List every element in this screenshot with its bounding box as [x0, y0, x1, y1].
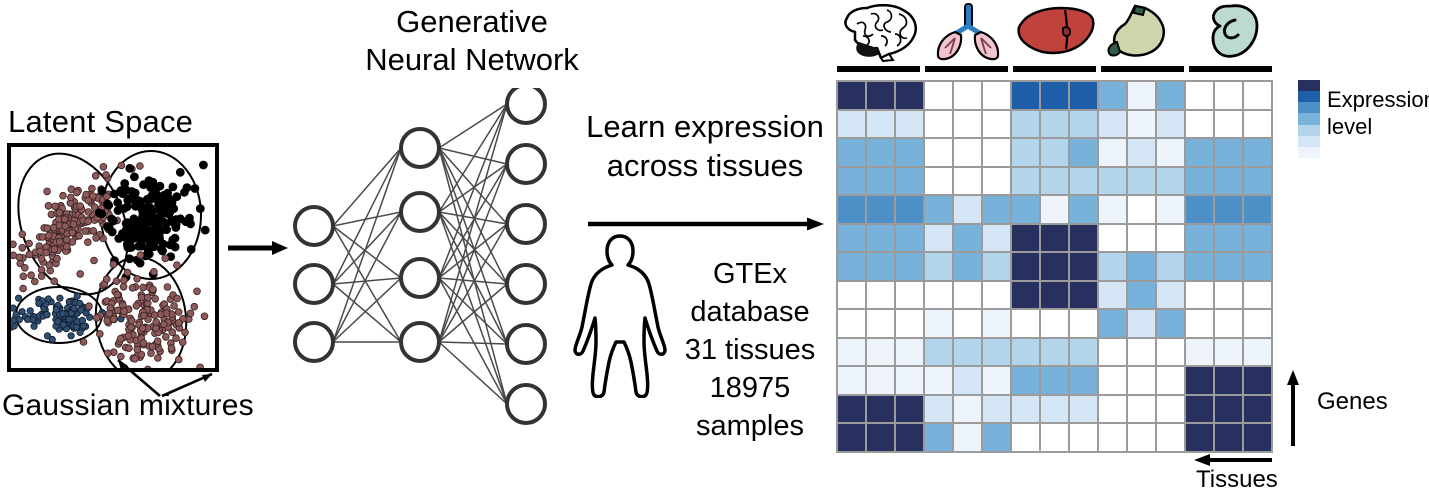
heatmap-cell: [896, 339, 923, 366]
heatmap-cell: [925, 111, 952, 138]
heatmap-cell: [1012, 339, 1039, 366]
scatter-point: [93, 315, 100, 322]
heatmap-cell: [1244, 196, 1271, 223]
network-edge: [333, 212, 401, 284]
heatmap-cell: [838, 196, 865, 223]
scatter-point: [130, 173, 138, 181]
heatmap-cell: [1041, 139, 1068, 166]
stomach-icon: [1100, 2, 1187, 64]
scatter-point: [56, 209, 63, 216]
genes-axis-arrow: [1285, 368, 1301, 448]
heatmap-cell: [867, 282, 894, 309]
kidney-icon: [1188, 2, 1275, 64]
heatmap-cell: [1186, 282, 1213, 309]
heatmap-cell: [1070, 339, 1097, 366]
heatmap-cell: [1012, 367, 1039, 394]
scatter-point: [175, 320, 182, 327]
colorbar-swatch: [1298, 136, 1320, 147]
heatmap-cell: [1244, 310, 1271, 337]
heatmap-cell: [1186, 339, 1213, 366]
scatter-point: [170, 216, 178, 224]
heatmap-cell: [1186, 310, 1213, 337]
heatmap-cell: [1099, 367, 1126, 394]
network-node: [401, 323, 439, 361]
heatmap-cell: [1244, 367, 1271, 394]
colorbar-swatch: [1298, 80, 1320, 91]
heatmap-cell: [954, 139, 981, 166]
learn-expression-title: Learn expression across tissues: [578, 107, 832, 185]
scatter-point: [124, 269, 131, 276]
heatmap-cell: [1157, 282, 1184, 309]
heatmap-cell: [838, 310, 865, 337]
scatter-point: [62, 223, 69, 230]
scatter-point: [144, 195, 152, 203]
learn-title-line1: Learn expression: [578, 107, 832, 146]
scatter-point: [125, 332, 132, 339]
scatter-point: [61, 216, 68, 223]
heatmap-cell: [925, 424, 952, 451]
scatter-point: [44, 333, 50, 339]
heatmap-cell: [1128, 424, 1155, 451]
heatmap-cell: [1099, 196, 1126, 223]
scatter-point: [173, 335, 180, 342]
scatter-point: [144, 216, 152, 224]
heatmap-cell: [1215, 367, 1242, 394]
scatter-point: [98, 187, 106, 195]
scatter-point: [162, 334, 169, 341]
heatmap-cell: [896, 253, 923, 280]
heatmap-cell: [1244, 424, 1271, 451]
heatmap-cell: [1157, 139, 1184, 166]
heatmap-cell: [1215, 339, 1242, 366]
heatmap-cell: [1186, 82, 1213, 109]
heatmap-cell: [838, 339, 865, 366]
heatmap-cell: [954, 367, 981, 394]
scatter-point: [24, 316, 30, 322]
heatmap-cell: [1041, 339, 1068, 366]
scatter-point: [145, 177, 153, 185]
heatmap-cell: [1215, 396, 1242, 423]
scatter-point: [175, 309, 182, 316]
scatter-point: [85, 209, 92, 216]
heatmap-cell: [954, 310, 981, 337]
scatter-point: [52, 203, 59, 210]
scatter-point: [28, 272, 35, 279]
heatmap-cell: [1012, 196, 1039, 223]
scatter-point: [152, 295, 159, 302]
heatmap-cell: [838, 139, 865, 166]
scatter-point: [187, 245, 195, 253]
scatter-point: [199, 161, 207, 169]
heatmap-cell: [954, 168, 981, 195]
heatmap-cell: [1070, 310, 1097, 337]
heatmap-cell: [925, 282, 952, 309]
scatter-point: [135, 242, 143, 250]
heatmap-cell: [983, 310, 1010, 337]
heatmap-cell: [1041, 168, 1068, 195]
scatter-point: [191, 303, 198, 310]
heatmap-cell: [1128, 367, 1155, 394]
scatter-point: [134, 275, 141, 282]
heatmap-cell: [983, 196, 1010, 223]
scatter-point: [149, 343, 156, 350]
scatter-point: [154, 338, 161, 345]
heatmap-cell: [1215, 196, 1242, 223]
scatter-point: [117, 335, 124, 342]
latent-space-title: Latent Space: [8, 104, 193, 140]
scatter-point: [139, 325, 146, 332]
scatter-point: [19, 244, 26, 251]
heatmap-cell: [983, 225, 1010, 252]
heatmap-cell: [1157, 253, 1184, 280]
heatmap-cell: [983, 339, 1010, 366]
scatter-point: [38, 273, 45, 280]
gtex-line1: GTEx database: [664, 255, 836, 331]
heatmap-cell: [954, 396, 981, 423]
heatmap-cell: [1012, 139, 1039, 166]
heatmap-cell: [896, 168, 923, 195]
heatmap-cell: [838, 282, 865, 309]
network-edge: [439, 148, 507, 164]
heatmap-cell: [1244, 225, 1271, 252]
network-node: [507, 265, 545, 303]
heatmap-cell: [1215, 424, 1242, 451]
scatter-point: [60, 192, 67, 199]
scatter-point: [114, 207, 122, 215]
scatter-point: [38, 267, 45, 274]
scatter-point: [140, 284, 147, 291]
scatter-point: [111, 190, 119, 198]
scatter-point: [119, 190, 127, 198]
heatmap-cell: [1128, 339, 1155, 366]
scatter-point: [161, 321, 168, 328]
heatmap-cell: [1128, 310, 1155, 337]
colorbar-label-line1: Expression: [1327, 86, 1427, 113]
scatter-point: [91, 257, 98, 264]
scatter-point: [44, 188, 51, 195]
heatmap-cell: [925, 367, 952, 394]
heatmap-cell: [1244, 82, 1271, 109]
heatmap-cell: [896, 282, 923, 309]
heatmap-cell: [896, 396, 923, 423]
learn-title-line2: across tissues: [578, 146, 832, 185]
heatmap-cell: [1128, 168, 1155, 195]
scatter-point: [96, 331, 103, 338]
scatter-point: [129, 284, 136, 291]
scatter-point: [128, 317, 135, 324]
heatmap-cell: [925, 82, 952, 109]
scatter-point: [92, 172, 99, 179]
scatter-point: [126, 164, 134, 172]
scatter-point: [168, 345, 175, 352]
scatter-point: [45, 202, 52, 209]
scatter-point: [31, 323, 37, 329]
scatter-point: [118, 162, 125, 169]
scatter-point: [182, 329, 189, 336]
scatter-point: [180, 188, 188, 196]
heatmap-cell: [838, 396, 865, 423]
heatmap-cell: [1157, 225, 1184, 252]
scatter-point: [84, 239, 91, 246]
heatmap-cell: [867, 225, 894, 252]
scatter-point: [38, 255, 45, 262]
network-edge: [439, 104, 507, 212]
scatter-point: [133, 302, 140, 309]
scatter-point: [120, 283, 127, 290]
scatter-point: [56, 238, 63, 245]
organ-underline-lungs: [925, 66, 1008, 72]
scatter-point: [136, 259, 144, 267]
scatter-point: [201, 226, 209, 234]
heatmap-cell: [1012, 111, 1039, 138]
heatmap-cell: [954, 225, 981, 252]
heatmap-cell: [1128, 253, 1155, 280]
scatter-point: [174, 295, 181, 302]
heatmap-cell: [838, 253, 865, 280]
heatmap-cell: [1070, 111, 1097, 138]
brain-icon: [836, 2, 923, 64]
scatter-point: [114, 199, 122, 207]
network-node: [295, 265, 333, 303]
heatmap-cell: [896, 225, 923, 252]
heatmap-cell: [1099, 253, 1126, 280]
scatter-point: [80, 339, 87, 346]
heatmap-cell: [983, 253, 1010, 280]
heatmap-cell: [867, 339, 894, 366]
organ-underline-brain: [837, 66, 920, 72]
scatter-point: [63, 236, 70, 243]
heatmap-cell: [1186, 396, 1213, 423]
scatter-point: [144, 294, 151, 301]
expression-colorbar: [1298, 80, 1320, 158]
heatmap-cell: [954, 282, 981, 309]
latent-space-plot-box: [7, 143, 219, 372]
scatter-point: [121, 234, 129, 242]
scatter-point: [16, 254, 23, 261]
scatter-point: [68, 333, 74, 339]
scatter-point: [53, 307, 59, 313]
heatmap-cell: [1186, 225, 1213, 252]
heatmap-cell: [1186, 367, 1213, 394]
scatter-point: [70, 221, 77, 228]
colorbar-swatch: [1298, 102, 1320, 113]
scatter-point: [73, 324, 79, 330]
heatmap-cell: [1157, 310, 1184, 337]
scatter-point: [20, 285, 27, 292]
gtex-line2: 31 tissues: [664, 331, 836, 369]
scatter-point: [153, 325, 160, 332]
network-edge: [333, 148, 401, 284]
network-edge: [439, 278, 507, 404]
scatter-point: [46, 262, 53, 269]
scatter-point: [74, 293, 80, 299]
heatmap-cell: [983, 396, 1010, 423]
scatter-point: [103, 172, 110, 179]
scatter-point: [201, 313, 208, 320]
heatmap-cell: [1012, 282, 1039, 309]
scatter-point: [21, 264, 28, 271]
scatter-point: [85, 197, 92, 204]
network-title-line1: Generative: [352, 3, 592, 41]
heatmap-cell: [838, 225, 865, 252]
scatter-point: [98, 210, 106, 218]
scatter-point: [71, 305, 77, 311]
heatmap-cell: [1070, 168, 1097, 195]
heatmap-cell: [1215, 253, 1242, 280]
scatter-point: [43, 249, 50, 256]
heatmap-cell: [1128, 139, 1155, 166]
heatmap-cell: [1041, 310, 1068, 337]
scatter-point: [44, 311, 50, 317]
heatmap-cell: [896, 367, 923, 394]
heatmap-cell: [1012, 225, 1039, 252]
heatmap-cell: [1070, 225, 1097, 252]
scatter-point: [137, 163, 144, 170]
heatmap-cell: [1244, 139, 1271, 166]
heatmap-cell: [838, 111, 865, 138]
scatter-point: [114, 291, 121, 298]
scatter-point: [78, 307, 84, 313]
organ-underline-stomach: [1101, 66, 1184, 72]
heatmap-cell: [838, 367, 865, 394]
scatter-point: [104, 317, 111, 324]
heatmap-cell: [1157, 424, 1184, 451]
cluster-points-brown-lower: [80, 252, 208, 368]
scatter-point: [31, 278, 38, 285]
heatmap-cell: [1099, 310, 1126, 337]
heatmap-cell: [1186, 168, 1213, 195]
heatmap-cell: [983, 424, 1010, 451]
heatmap-cell: [983, 82, 1010, 109]
arrow-latent-to-network: [228, 238, 290, 258]
organ-underline-liver: [1013, 66, 1096, 72]
heatmap-cell: [925, 168, 952, 195]
scatter-point: [54, 255, 61, 262]
heatmap-cell: [1099, 396, 1126, 423]
heatmap-cell: [983, 111, 1010, 138]
scatter-point: [150, 286, 157, 293]
scatter-point: [36, 300, 42, 306]
heatmap-cell: [983, 367, 1010, 394]
scatter-point: [164, 189, 172, 197]
scatter-point: [196, 205, 204, 213]
scatter-point: [51, 278, 58, 285]
scatter-point: [186, 214, 194, 222]
heatmap-cell: [1157, 111, 1184, 138]
heatmap-cell: [1012, 310, 1039, 337]
heatmap-cell: [896, 310, 923, 337]
scatter-point: [152, 223, 160, 231]
network-node: [295, 323, 333, 361]
heatmap-cell: [925, 225, 952, 252]
scatter-point: [85, 218, 92, 225]
scatter-point: [179, 339, 186, 346]
genes-axis-label: Genes: [1317, 388, 1388, 416]
arrow-network-to-heatmap: [588, 215, 826, 233]
heatmap-cell: [954, 253, 981, 280]
scatter-point: [69, 229, 76, 236]
scatter-point: [77, 203, 84, 210]
heatmap-cell: [1244, 253, 1271, 280]
heatmap-cell: [1012, 424, 1039, 451]
heatmap-cell: [896, 196, 923, 223]
heatmap-cell: [1128, 282, 1155, 309]
network-node: [401, 193, 439, 231]
scatter-point: [149, 207, 157, 215]
scatter-point: [11, 305, 16, 311]
heatmap-cell: [1070, 424, 1097, 451]
heatmap-cell: [1244, 339, 1271, 366]
heatmap-cell: [954, 339, 981, 366]
heatmap-cell: [1041, 111, 1068, 138]
heatmap-cell: [1157, 396, 1184, 423]
scatter-point: [26, 240, 33, 247]
heatmap-cell: [1099, 111, 1126, 138]
heatmap-cell: [1099, 225, 1126, 252]
colorbar-swatch: [1298, 125, 1320, 136]
network-node: [507, 385, 545, 423]
scatter-point: [160, 201, 168, 209]
heatmap-cell: [867, 367, 894, 394]
colorbar-swatch: [1298, 91, 1320, 102]
scatter-point: [141, 312, 148, 319]
heatmap-cell: [954, 424, 981, 451]
heatmap-cell: [1041, 253, 1068, 280]
scatter-point: [140, 340, 147, 347]
heatmap-cell: [1070, 396, 1097, 423]
heatmap-cell: [925, 310, 952, 337]
heatmap-cell: [1128, 225, 1155, 252]
scatter-point: [15, 295, 21, 301]
heatmap-cell: [1041, 82, 1068, 109]
scatter-point: [128, 226, 136, 234]
scatter-point: [86, 303, 93, 310]
heatmap-cell: [1244, 111, 1271, 138]
network-node: [507, 145, 545, 183]
network-node: [507, 205, 545, 243]
scatter-point: [153, 194, 161, 202]
organ-underline-kidney: [1189, 66, 1272, 72]
network-node: [507, 325, 545, 363]
network-edge: [333, 212, 401, 342]
network-node: [295, 207, 333, 245]
colorbar-swatch: [1298, 113, 1320, 124]
heatmap-cell: [1157, 82, 1184, 109]
organ-icon-row: [836, 2, 1273, 64]
heatmap-cell: [1041, 367, 1068, 394]
scatter-point: [60, 310, 66, 316]
scatter-point: [137, 252, 144, 259]
scatter-point: [45, 232, 52, 239]
gtex-line3: 18975 samples: [664, 369, 836, 445]
heatmap-cell: [1070, 139, 1097, 166]
scatter-point: [110, 261, 117, 268]
heatmap-cell: [1215, 168, 1242, 195]
scatter-point: [19, 231, 26, 238]
scatter-point: [63, 243, 70, 250]
heatmap-cell: [1215, 82, 1242, 109]
heatmap-cell: [1244, 282, 1271, 309]
heatmap-cell: [1128, 196, 1155, 223]
heatmap-cell: [954, 82, 981, 109]
heatmap-cell: [867, 82, 894, 109]
scatter-point: [76, 232, 83, 239]
heatmap-cell: [954, 111, 981, 138]
scatter-point: [187, 310, 194, 317]
scatter-point: [90, 228, 97, 235]
scatter-point: [153, 319, 160, 326]
scatter-point: [121, 308, 128, 315]
